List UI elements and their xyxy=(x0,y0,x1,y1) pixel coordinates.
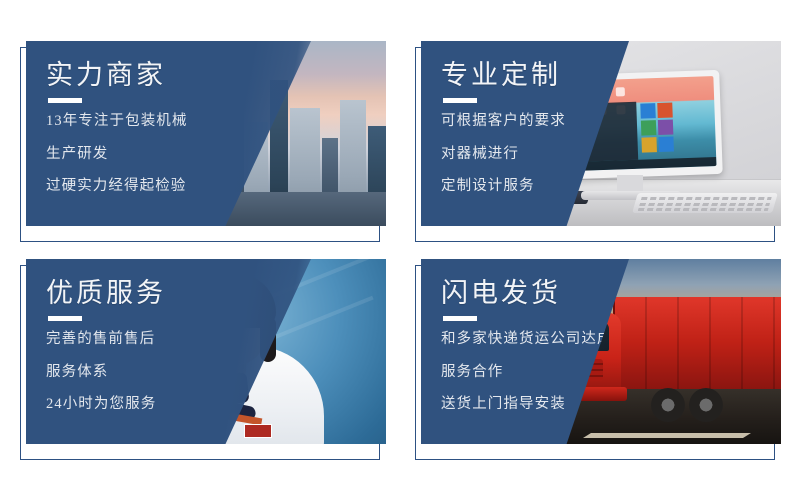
card-title: 实力商家 xyxy=(46,61,311,89)
card-body: 实力商家 13年专注于包装机械 生产研发 过硬实力经得起检验 xyxy=(26,41,386,226)
title-underline-rule xyxy=(443,98,477,103)
feature-card-strength-merchant[interactable]: 实力商家 13年专注于包装机械 生产研发 过硬实力经得起检验 xyxy=(26,41,386,236)
card-line: 完善的售前售后 xyxy=(46,332,311,347)
feature-card-quality-service[interactable]: 优质服务 完善的售前售后 服务体系 24小时为您服务 xyxy=(26,259,386,454)
card-title: 优质服务 xyxy=(46,279,311,307)
title-underline-rule xyxy=(443,316,477,321)
title-underline-rule xyxy=(48,98,82,103)
card-line: 13年专注于包装机械 xyxy=(46,114,311,129)
feature-card-professional-customization[interactable]: 专业定制 可根据客户的要求 对器械进行 定制设计服务 xyxy=(421,41,781,236)
card-body: 优质服务 完善的售前售后 服务体系 24小时为您服务 xyxy=(26,259,386,444)
card-body: 专业定制 可根据客户的要求 对器械进行 定制设计服务 xyxy=(421,41,781,226)
feature-cards-page: 实力商家 13年专注于包装机械 生产研发 过硬实力经得起检验 xyxy=(0,0,790,487)
feature-card-fast-shipping[interactable]: 闪电发货 和多家快递货运公司达成 服务合作 送货上门指导安装 xyxy=(421,259,781,454)
card-body: 闪电发货 和多家快递货运公司达成 服务合作 送货上门指导安装 xyxy=(421,259,781,444)
title-underline-rule xyxy=(48,316,82,321)
feature-card-grid: 实力商家 13年专注于包装机械 生产研发 过硬实力经得起检验 xyxy=(0,0,790,455)
